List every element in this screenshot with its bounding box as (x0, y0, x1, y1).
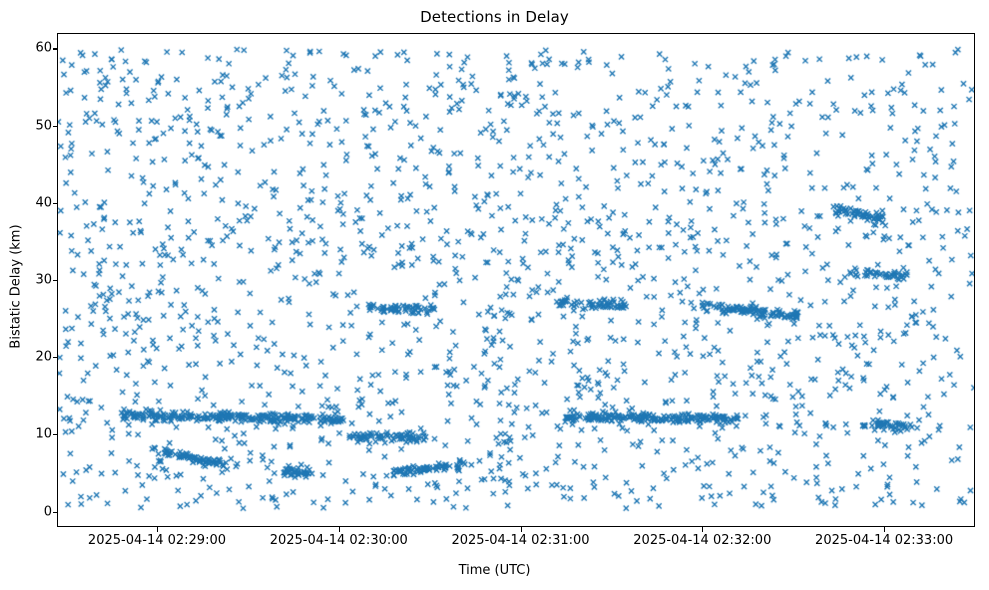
plot-area (57, 33, 975, 527)
x-tick-mark (157, 527, 158, 532)
y-tick-mark (53, 357, 58, 358)
y-tick-mark (53, 280, 58, 281)
y-axis-tick-marks (57, 33, 67, 527)
y-tick-mark (53, 512, 58, 513)
x-tick-mark (702, 527, 703, 532)
x-tick-mark (884, 527, 885, 532)
y-tick-mark (53, 203, 58, 204)
y-tick-mark (53, 126, 58, 127)
x-axis-tick-marks (57, 527, 975, 537)
x-tick-mark (339, 527, 340, 532)
x-tick-mark (521, 527, 522, 532)
y-tick-mark (53, 434, 58, 435)
scatter-plot-canvas (58, 34, 974, 526)
y-tick-mark (53, 48, 58, 49)
figure-canvas: Detections in Delay Bistatic Delay (km) … (0, 0, 989, 590)
